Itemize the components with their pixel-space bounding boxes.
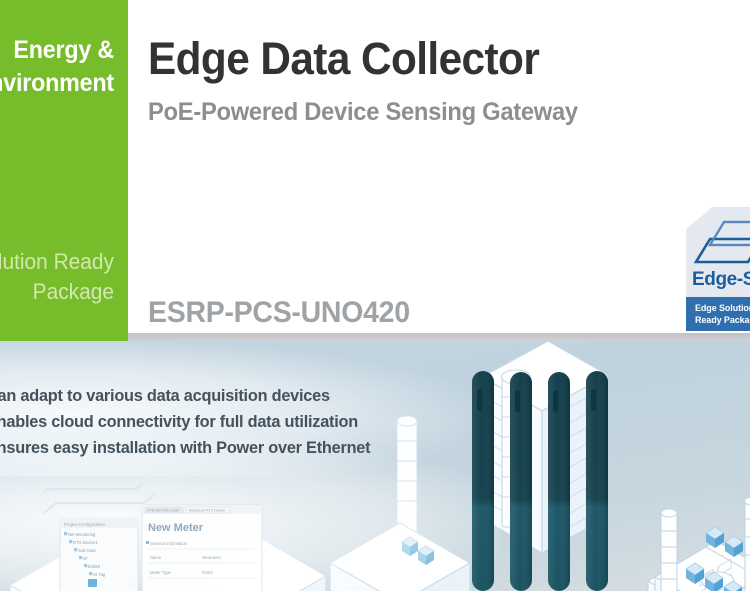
badge-strip-line-2: Ready Package — [695, 314, 750, 326]
antenna-group — [460, 341, 620, 591]
antenna-1 — [472, 371, 494, 591]
svg-text:General Information: General Information — [150, 541, 188, 546]
svg-text:Newmeter: Newmeter — [202, 555, 222, 560]
svg-text:RTU-DEVICE-Chart: RTU-DEVICE-Chart — [147, 509, 179, 513]
category-block: Energy & Environment Solution Ready Pack… — [0, 0, 128, 341]
srp-line-1: Solution Ready — [0, 247, 114, 277]
page-title: Edge Data Collector — [148, 36, 539, 81]
svg-text:BlokDI: BlokDI — [88, 564, 100, 569]
antenna-2 — [510, 372, 532, 591]
illustration-panel: Project Configuration Net Monitoring RTU… — [0, 341, 750, 591]
software-screenshot-thumbnail: Project Configuration Net Monitoring RTU… — [44, 483, 344, 591]
svg-text:Name: Name — [150, 555, 162, 560]
svg-text:IO Tag: IO Tag — [93, 572, 106, 577]
svg-text:2F: 2F — [83, 556, 88, 561]
svg-text:Net Monitoring: Net Monitoring — [68, 532, 96, 537]
category-label: Energy & Environment — [0, 34, 114, 99]
svg-text:Project Configuration: Project Configuration — [64, 522, 106, 527]
feature-list: Can adapt to various data acquisition de… — [0, 383, 437, 461]
product-banner: Energy & Environment Solution Ready Pack… — [0, 0, 750, 591]
badge-strip-text: Edge Solution Ready Package — [695, 302, 750, 326]
svg-text:Sub-Gate: Sub-Gate — [78, 548, 97, 553]
model-number: ESRP-PCS-UNO420 — [148, 298, 410, 328]
interlocking-parallelograms-icon — [694, 219, 750, 265]
svg-text:Advanced RTU Device: Advanced RTU Device — [189, 509, 225, 513]
category-line-1: Energy & — [0, 34, 114, 67]
page-subtitle: PoE-Powered Device Sensing Gateway — [148, 100, 578, 125]
antenna-3 — [548, 372, 570, 591]
svg-text:New Meter: New Meter — [148, 522, 204, 534]
feature-item: Ensures easy installation with Power ove… — [0, 435, 437, 461]
badge-strip-line-1: Edge Solution — [695, 302, 750, 314]
antenna-4 — [586, 371, 608, 591]
badge-title: Edge-SRP — [692, 269, 750, 291]
edge-srp-badge: Edge-SRP Edge Solution Ready Package — [686, 207, 750, 331]
svg-text:RTU Device1: RTU Device1 — [73, 540, 98, 545]
svg-text:Meter Type: Meter Type — [150, 570, 172, 575]
feature-item: Enables cloud connectivity for full data… — [0, 409, 437, 435]
category-line-2: Environment — [0, 67, 114, 100]
svg-text:mtr03: mtr03 — [202, 570, 213, 575]
feature-item: Can adapt to various data acquisition de… — [0, 383, 437, 409]
srp-line-2: Package — [0, 277, 114, 307]
srp-label: Solution Ready Package — [0, 247, 114, 308]
badge-strip: Edge Solution Ready Package — [686, 297, 750, 331]
